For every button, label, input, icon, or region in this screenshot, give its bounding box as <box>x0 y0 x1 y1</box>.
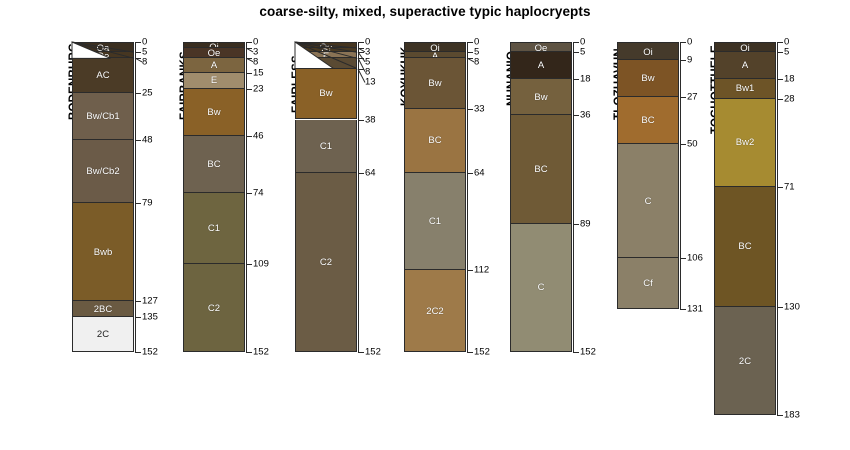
axis-tick <box>467 173 473 174</box>
soil-horizon[interactable]: Oi <box>714 42 776 52</box>
axis-line <box>467 42 468 352</box>
axis-tick <box>777 99 783 100</box>
horizon-label: Bw/Cb2 <box>73 166 133 177</box>
axis-tick <box>680 60 686 61</box>
horizon-label: Bw <box>296 88 356 99</box>
soil-horizon[interactable]: BC <box>510 115 572 223</box>
axis-tick-label: 127 <box>142 296 158 307</box>
axis-tick <box>680 97 686 98</box>
horizon-label: A <box>511 60 571 71</box>
thin-layer-wedge <box>295 42 357 71</box>
axis-tick-label: 152 <box>142 347 158 358</box>
axis-tick <box>246 264 252 265</box>
horizon-label: C <box>511 282 571 293</box>
soil-horizon[interactable]: C2 <box>183 264 245 352</box>
axis-line <box>777 42 778 415</box>
axis-tick-label: 25 <box>142 87 153 98</box>
soil-horizon[interactable]: BC <box>183 136 245 193</box>
axis-tick <box>358 173 364 174</box>
horizon-label: Oi <box>405 43 465 53</box>
horizon-column: OeOiEBwC1C2 <box>295 42 357 352</box>
axis-tick-label: 5 <box>784 47 789 58</box>
horizon-label: C2 <box>296 257 356 268</box>
axis-tick <box>777 307 783 308</box>
axis-tick <box>358 52 364 53</box>
axis-tick <box>358 58 364 59</box>
axis-tick <box>358 42 364 43</box>
axis-tick-label: 0 <box>687 37 692 48</box>
axis-tick-label: 8 <box>142 57 147 68</box>
soil-horizon[interactable]: E <box>183 73 245 89</box>
axis-tick <box>680 258 686 259</box>
horizon-label: Oe <box>511 43 571 53</box>
axis-tick-label: 38 <box>365 114 376 125</box>
soil-horizon[interactable]: Bw <box>404 58 466 109</box>
soil-horizon[interactable]: Oi <box>617 42 679 60</box>
axis-tick <box>135 301 141 302</box>
axis-tick <box>680 309 686 310</box>
soil-horizon[interactable]: Bw2 <box>714 99 776 187</box>
horizon-label: BC <box>618 115 678 126</box>
axis-tick-label: 183 <box>784 410 800 421</box>
horizon-label: Bw/Cb1 <box>73 111 133 122</box>
axis-tick <box>358 352 364 353</box>
horizon-label: Bw <box>618 73 678 84</box>
axis-tick <box>246 136 252 137</box>
soil-horizon[interactable]: A <box>183 58 245 72</box>
horizon-label: Bw1 <box>715 83 775 94</box>
axis-tick <box>246 48 252 49</box>
soil-horizon[interactable]: C1 <box>404 173 466 271</box>
axis-tick <box>135 42 141 43</box>
axis-tick-label: 8 <box>474 57 479 68</box>
axis-tick-label: 9 <box>687 55 692 66</box>
soil-horizon[interactable]: BC <box>404 109 466 172</box>
axis-tick-label: 64 <box>365 167 376 178</box>
horizon-label: 2C2 <box>405 306 465 317</box>
soil-horizon[interactable]: Oe <box>183 48 245 58</box>
horizon-label: Oi <box>715 43 775 53</box>
horizon-label: A <box>715 60 775 71</box>
soil-horizon[interactable]: C <box>617 144 679 258</box>
axis-line <box>358 42 359 352</box>
soil-horizon[interactable]: AC <box>72 58 134 93</box>
axis-tick <box>358 120 364 121</box>
soil-horizon[interactable]: C1 <box>183 193 245 264</box>
axis-tick <box>135 140 141 141</box>
soil-horizon[interactable]: 2C <box>714 307 776 415</box>
soil-horizon[interactable]: BC <box>617 97 679 144</box>
axis-tick-label: 46 <box>253 130 264 141</box>
axis-tick <box>777 52 783 53</box>
axis-tick-label: 79 <box>142 198 153 209</box>
axis-tick-label: 135 <box>142 312 158 323</box>
axis-tick <box>777 415 783 416</box>
soil-horizon[interactable]: C <box>510 224 572 352</box>
axis-line <box>573 42 574 352</box>
soil-horizon[interactable]: 2BC <box>72 301 134 317</box>
soil-horizon[interactable]: A <box>714 52 776 79</box>
axis-tick <box>467 109 473 110</box>
horizon-label: 2C <box>715 356 775 367</box>
axis-tick-label: 18 <box>580 73 591 84</box>
horizon-label: Oi <box>618 47 678 58</box>
horizon-label: C <box>618 196 678 207</box>
horizon-label: C1 <box>184 223 244 234</box>
axis-tick <box>680 42 686 43</box>
horizon-column: OiABwBCC12C2 <box>404 42 466 352</box>
horizon-label: Bwb <box>73 247 133 258</box>
horizon-label: Bw <box>184 107 244 118</box>
axis-tick-label: 152 <box>365 347 381 358</box>
axis-tick-label: 152 <box>580 347 596 358</box>
horizon-label: AC <box>73 70 133 81</box>
axis-tick <box>777 79 783 80</box>
horizon-label: BC <box>184 159 244 170</box>
soil-horizon[interactable]: Oe <box>510 42 572 52</box>
axis-tick-label: 152 <box>253 347 269 358</box>
axis-tick <box>246 42 252 43</box>
axis-tick-label: 23 <box>253 83 264 94</box>
horizon-label: Bw2 <box>715 137 775 148</box>
axis-tick-label: 106 <box>687 253 703 264</box>
horizon-label: 2C <box>73 329 133 340</box>
soil-horizon[interactable]: Bwb <box>72 203 134 301</box>
soil-horizon[interactable]: Bw/Cb1 <box>72 93 134 140</box>
axis-tick <box>358 48 364 49</box>
soil-horizon[interactable]: C2 <box>295 173 357 352</box>
axis-tick <box>573 42 579 43</box>
horizon-label: BC <box>511 164 571 175</box>
thin-layer-wedge <box>72 42 134 60</box>
axis-tick-label: 109 <box>253 259 269 270</box>
horizon-label: BC <box>715 241 775 252</box>
axis-tick <box>246 193 252 194</box>
axis-tick <box>467 352 473 353</box>
axis-tick <box>135 317 141 318</box>
axis-tick <box>467 58 473 59</box>
axis-tick-label: 131 <box>687 304 703 315</box>
axis-tick <box>467 42 473 43</box>
axis-tick-label: 27 <box>687 92 698 103</box>
horizon-column: OaOeACBw/Cb1Bw/Cb2Bwb2BC2C <box>72 42 134 352</box>
axis-tick <box>358 69 364 70</box>
axis-tick <box>246 58 252 59</box>
horizon-label: Cf <box>618 278 678 289</box>
soil-horizon[interactable]: Bw <box>295 69 357 120</box>
horizon-label: E <box>184 75 244 86</box>
axis-tick-label: 152 <box>474 347 490 358</box>
soil-horizon[interactable]: Bw <box>183 89 245 136</box>
axis-tick <box>573 115 579 116</box>
soil-horizon[interactable]: 2C2 <box>404 270 466 352</box>
axis-tick-label: 74 <box>253 187 264 198</box>
horizon-label: A <box>184 60 244 71</box>
axis-tick-label: 8 <box>253 57 258 68</box>
axis-tick <box>246 89 252 90</box>
soil-horizon[interactable]: BC <box>714 187 776 307</box>
axis-tick-label: 48 <box>142 134 153 145</box>
soil-horizon[interactable]: Cf <box>617 258 679 309</box>
axis-tick-label: 64 <box>474 167 485 178</box>
soil-horizon[interactable]: Bw <box>617 60 679 97</box>
page-title: coarse-silty, mixed, superactive typic h… <box>0 4 850 19</box>
horizon-column: OeABwBCC <box>510 42 572 352</box>
axis-tick-label: 71 <box>784 181 795 192</box>
axis-tick-label: 33 <box>474 104 485 115</box>
soil-horizon[interactable]: 2C <box>72 317 134 352</box>
axis-tick <box>246 352 252 353</box>
horizon-label: C2 <box>184 303 244 314</box>
horizon-column: OiABw1Bw2BC2C <box>714 42 776 415</box>
soil-horizon[interactable]: Bw1 <box>714 79 776 99</box>
horizon-label: 2BC <box>73 304 133 315</box>
axis-tick-label: 13 <box>365 77 376 88</box>
axis-tick-label: 5 <box>580 47 585 58</box>
axis-tick <box>777 187 783 188</box>
axis-tick <box>573 79 579 80</box>
axis-tick <box>467 270 473 271</box>
axis-tick <box>573 352 579 353</box>
axis-tick <box>777 42 783 43</box>
axis-tick <box>573 224 579 225</box>
axis-line <box>135 42 136 352</box>
axis-tick-label: 28 <box>784 94 795 105</box>
axis-tick-label: 112 <box>474 265 489 276</box>
axis-tick <box>573 52 579 53</box>
axis-tick <box>135 352 141 353</box>
horizon-label: Bw <box>511 92 571 103</box>
axis-line <box>680 42 681 309</box>
soil-horizon[interactable]: Bw <box>510 79 572 116</box>
horizon-label: Bw <box>405 78 465 89</box>
axis-tick-label: 89 <box>580 218 591 229</box>
soil-horizon[interactable]: C1 <box>295 120 357 173</box>
horizon-label: Oe <box>184 48 244 58</box>
soil-horizon[interactable]: Oi <box>404 42 466 52</box>
axis-tick-label: 15 <box>253 67 264 78</box>
axis-tick-label: 50 <box>687 138 698 149</box>
axis-tick-label: 36 <box>580 110 591 121</box>
axis-tick <box>135 58 141 59</box>
axis-tick <box>467 52 473 53</box>
horizon-column: OiBwBCCCf <box>617 42 679 309</box>
axis-tick <box>680 144 686 145</box>
axis-tick <box>135 52 141 53</box>
soil-horizon[interactable]: A <box>510 52 572 79</box>
soil-profile-chart: coarse-silty, mixed, superactive typic h… <box>0 0 850 450</box>
axis-tick-label: 130 <box>784 302 800 313</box>
horizon-label: BC <box>405 135 465 146</box>
axis-tick <box>246 73 252 74</box>
axis-tick-label: 18 <box>784 73 795 84</box>
horizon-column: OiOeAEBwBCC1C2 <box>183 42 245 352</box>
soil-horizon[interactable]: Bw/Cb2 <box>72 140 134 203</box>
horizon-label: C1 <box>405 216 465 227</box>
horizon-label: C1 <box>296 141 356 152</box>
axis-tick <box>135 93 141 94</box>
axis-tick <box>135 203 141 204</box>
